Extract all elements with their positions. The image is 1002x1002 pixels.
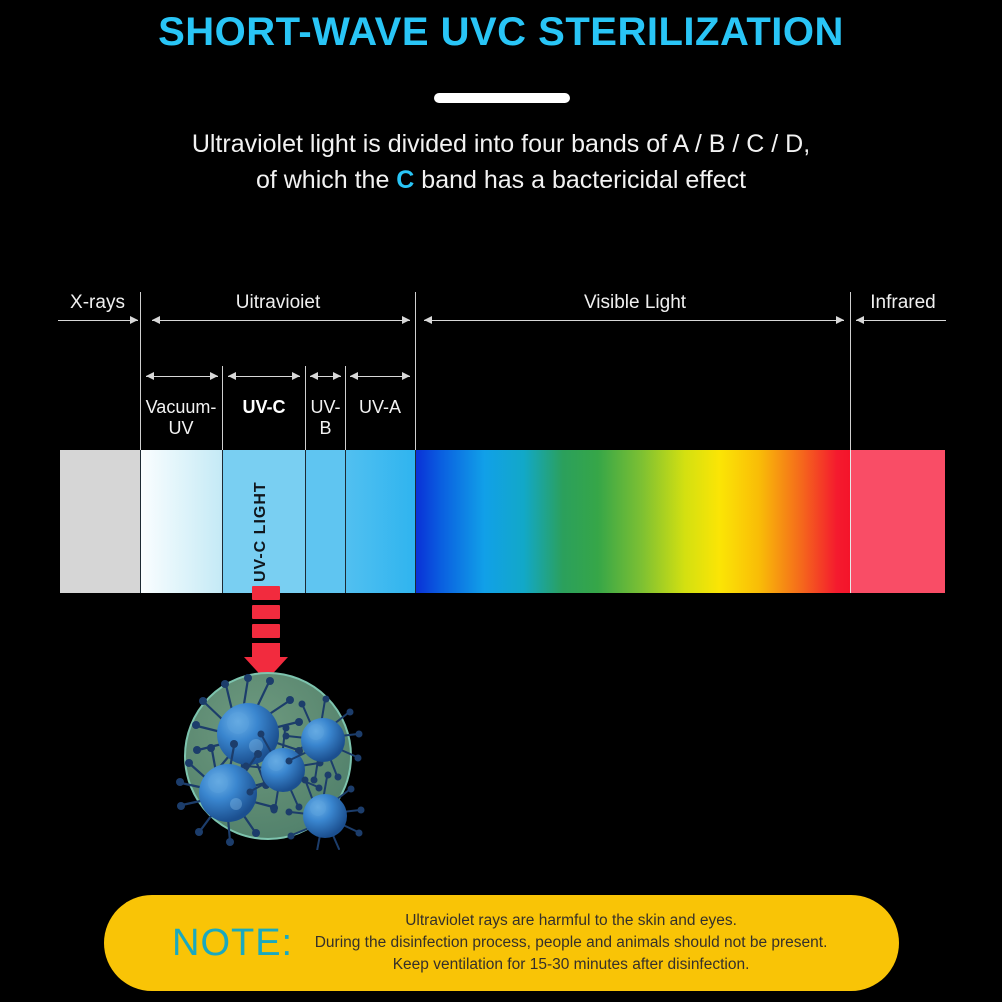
band-label-uva: UV-A [347,397,413,418]
spectrum-bar [60,450,945,593]
arrow-visible-light [424,316,844,325]
note-line-3: Keep ventilation for 15-30 minutes after… [293,954,849,976]
spectrum-sep-3 [305,450,306,593]
arrow-uva [350,372,410,381]
subtitle-line-1: Ultraviolet light is divided into four b… [0,126,1002,162]
uvc-light-label: UV-C LIGHT [252,462,274,582]
spectrum-sep-5 [415,450,416,593]
note-box: NOTE: Ultraviolet rays are harmful to th… [104,895,899,991]
subtitle-highlight-c: C [396,166,414,194]
arrow-xrays [58,316,138,325]
title-divider [434,93,570,103]
subtitle-line-2: of which the C band has a bactericidal e… [0,162,1002,198]
spectrum-segment-xray [60,450,140,593]
subtitle-line-2-before: of which the [256,166,396,194]
divider-visible-ir [850,292,851,450]
band-label-uvc: UV-C [224,397,304,418]
arrow-uvc [228,372,300,381]
subtitle-line-2-after: band has a bactericidal effect [414,166,746,194]
spectrum-sep-2 [222,450,223,593]
region-label-xrays: X-rays [55,292,140,314]
band-label-uvb: UV-B [307,397,344,439]
spectrum-sep-6 [850,450,851,593]
note-text: Ultraviolet rays are harmful to the skin… [293,910,899,976]
arrow-segment-1 [252,586,280,600]
region-label-infrared: Infrared [858,292,948,314]
spectrum-sep-1 [140,450,141,593]
subtitle: Ultraviolet light is divided into four b… [0,126,1002,198]
arrow-segment-3 [252,624,280,638]
region-label-visible-light: Visible Light [425,292,845,314]
divider-uvb-uva [345,366,346,450]
spectrum-segment-uvb [305,450,345,593]
spectrum-segment-vacuum-uv [140,450,222,593]
page-title: SHORT-WAVE UVC STERILIZATION [0,10,1002,55]
spectrum-segment-visible [415,450,850,593]
spectrum-segment-uva [345,450,415,593]
note-label: NOTE: [172,922,293,965]
virus-illustration [170,660,370,850]
divider-vacuumuv-uvc [222,366,223,450]
divider-uv-visible [415,292,416,450]
band-label-vacuum-uv: Vacuum-UV [140,397,222,439]
arrow-ultraviolet [152,316,410,325]
arrow-uvb [310,372,341,381]
divider-uvc-uvb [305,366,306,450]
arrow-vacuum-uv [146,372,218,381]
note-line-1: Ultraviolet rays are harmful to the skin… [293,910,849,932]
arrow-segment-2 [252,605,280,619]
note-line-2: During the disinfection process, people … [293,932,849,954]
spectrum-sep-4 [345,450,346,593]
arrow-infrared [856,316,946,325]
spectrum-segment-infrared [850,450,945,593]
region-label-ultraviolet: Uitravioiet [150,292,406,314]
